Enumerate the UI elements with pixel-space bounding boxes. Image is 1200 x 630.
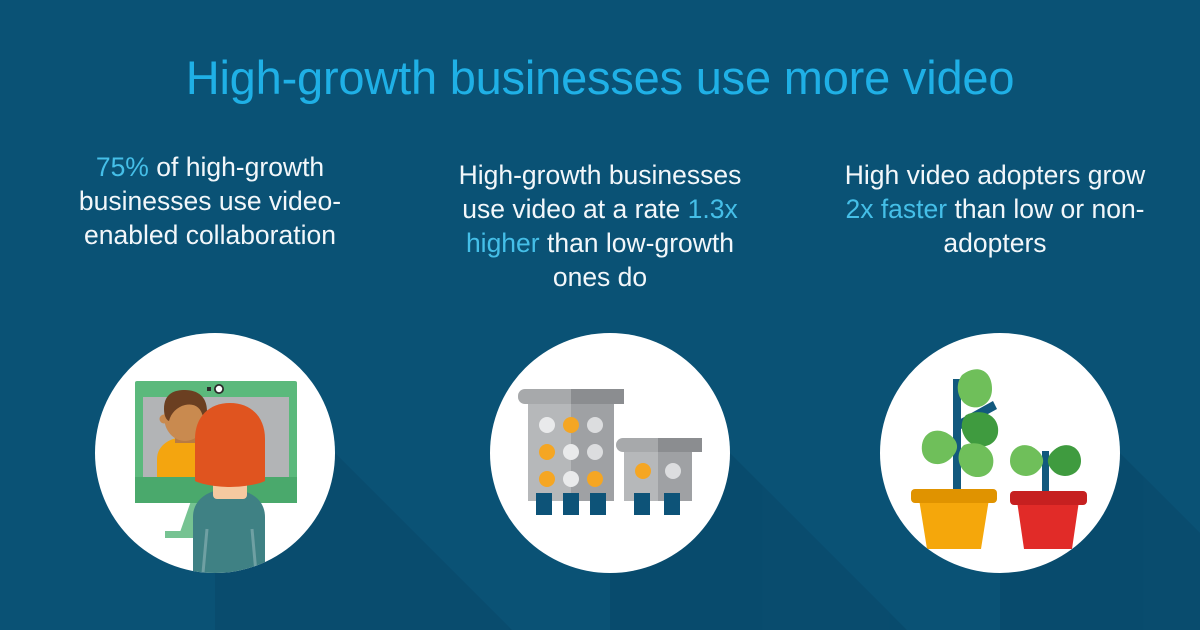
pot-yellow-body [919,499,989,549]
window [563,471,579,487]
column-3-stat: 2x faster [845,194,947,224]
infographic-canvas: High-growth businesses use more video 75… [0,0,1200,630]
column-growth-rate: High video adopters grow 2x faster than … [830,158,1160,260]
door [634,493,650,515]
window [563,444,579,460]
webcam-led-icon [207,387,211,391]
column-2-caption: High-growth businesses use video at a ra… [435,158,765,294]
leaf [962,412,998,446]
pot-yellow-rim [911,489,997,503]
leaf [959,443,994,477]
door [563,493,579,515]
page-title: High-growth businesses use more video [0,52,1200,104]
leaf [958,369,992,407]
column-video-enabled-collaboration: 75% of high-growth businesses use video-… [45,150,375,252]
webcam-lens-inner [216,386,222,392]
window [665,463,681,479]
potted-plants-icon [880,333,1120,573]
door [664,493,680,515]
column-1-stat: 75% [96,152,149,182]
video-call-icon [95,333,335,573]
pot-red-rim [1010,491,1087,505]
window [635,463,651,479]
column-1-caption: 75% of high-growth businesses use video-… [45,150,375,252]
column-3-caption: High video adopters grow 2x faster than … [830,158,1160,260]
window [587,444,603,460]
door [536,493,552,515]
leaf [1048,445,1081,476]
column-2-caption-rest: than low-growth ones do [540,228,734,292]
tall-building-roof-shade [571,389,624,404]
column-video-rate: High-growth businesses use video at a ra… [435,158,765,294]
door [590,493,606,515]
office-buildings-icon [490,333,730,573]
column-3-caption-rest: than low or non-adopters [943,194,1144,258]
column-3-caption-lead: High video adopters grow [845,160,1146,190]
window [539,417,555,433]
leaf [922,431,957,464]
small-building-roof-shade [658,438,702,452]
foreground-person-hair [195,403,265,487]
window [587,417,603,433]
leaf [1010,445,1043,476]
window [539,444,555,460]
window [539,471,555,487]
window [587,471,603,487]
window [563,417,579,433]
pot-red-body [1017,501,1079,549]
